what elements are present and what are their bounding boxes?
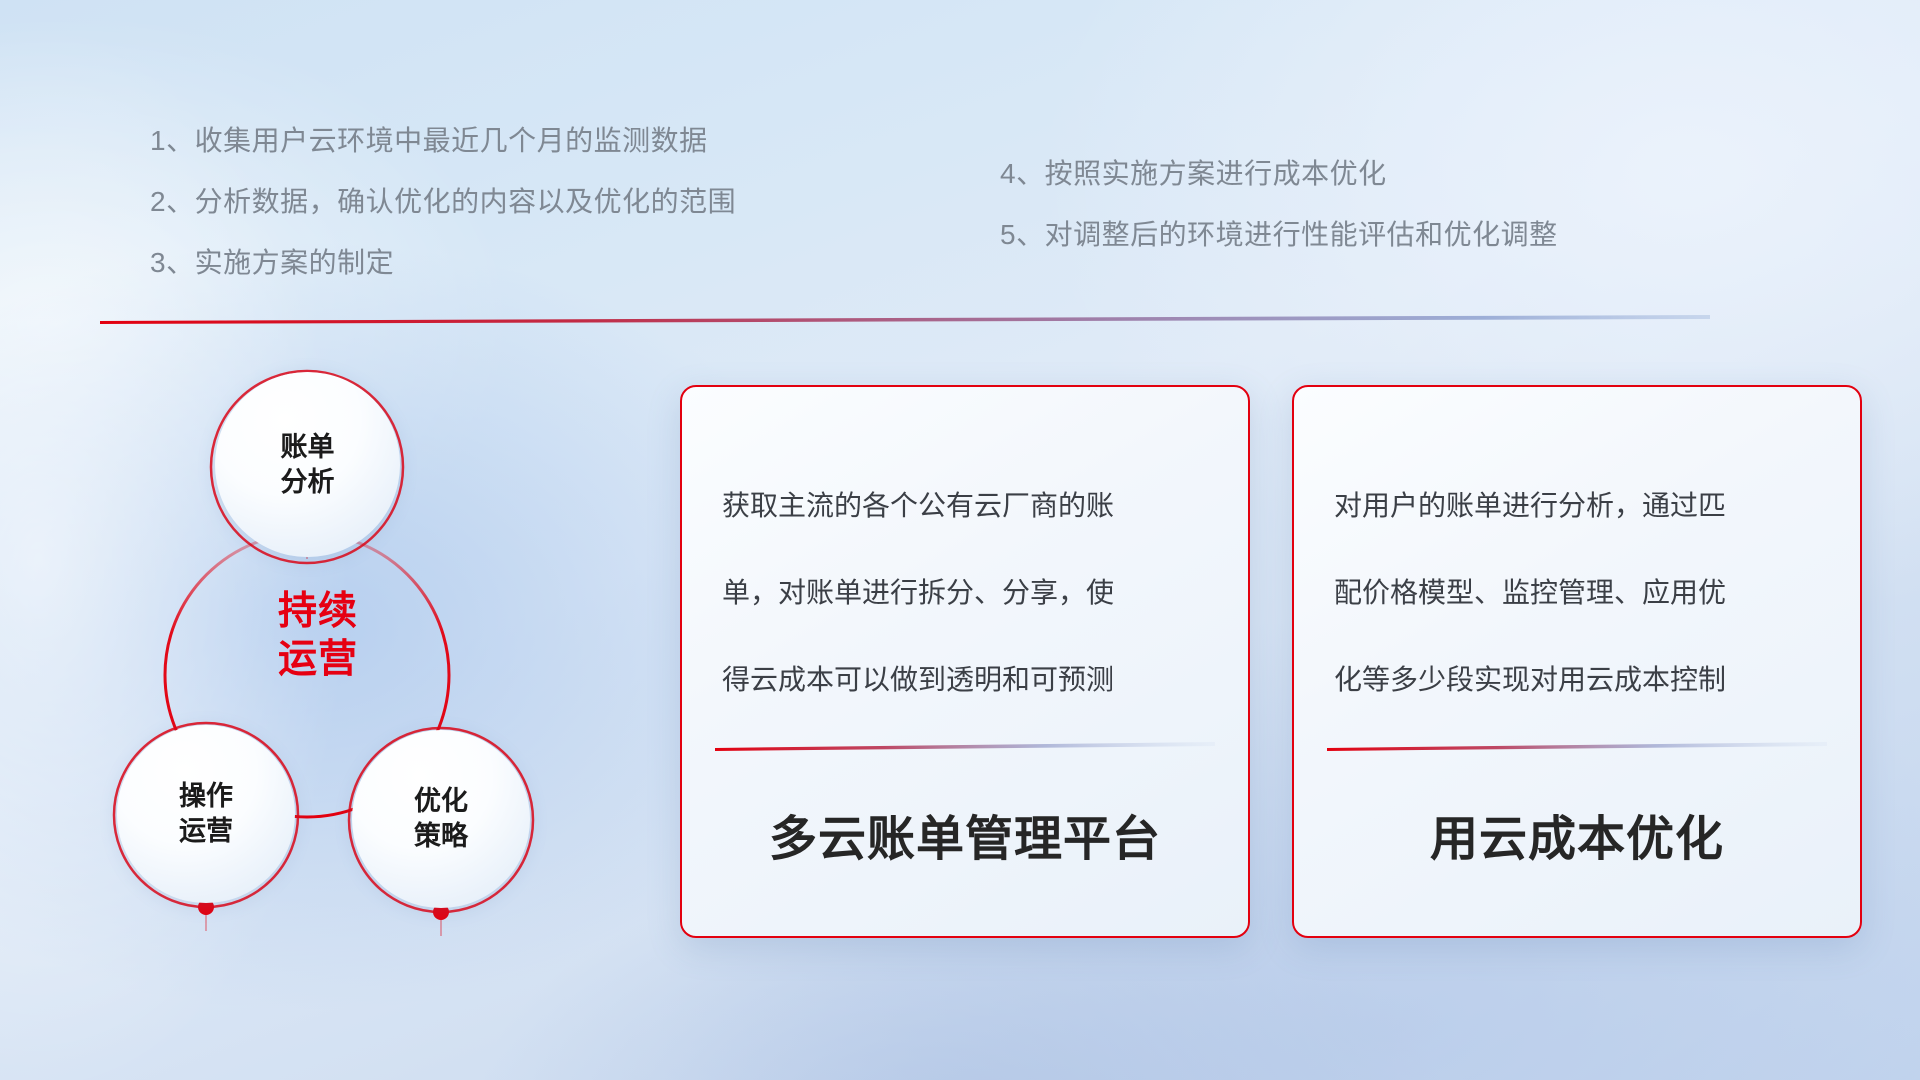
bubble-bill-analysis[interactable]: 账单 分析 — [215, 372, 400, 557]
step-item: 3、实施方案的制定 — [150, 249, 736, 277]
step-item: 1、收集用户云环境中最近几个月的监测数据 — [150, 127, 736, 155]
step-item: 2、分析数据，确认优化的内容以及优化的范围 — [150, 188, 736, 216]
card-text-line: 单，对账单进行拆分、分享，使 — [722, 579, 1222, 607]
bubble-label-line1: 账单 — [281, 430, 335, 465]
slide-canvas: 1、收集用户云环境中最近几个月的监测数据 2、分析数据，确认优化的内容以及优化的… — [0, 0, 1920, 1080]
bubble-label-line1: 优化 — [414, 784, 468, 819]
card-title: 用云成本优化 — [1294, 799, 1860, 869]
bubble-operations[interactable]: 操作 运营 — [117, 725, 295, 903]
feature-card-cloud-cost-optimization[interactable]: 对用户的账单进行分析，通过匹 配价格模型、监控管理、应用优 化等多少段实现对用云… — [1292, 385, 1862, 938]
section-divider-wedge — [100, 310, 1710, 324]
step-item: 4、按照实施方案进行成本优化 — [1000, 160, 1558, 188]
card-text-line: 获取主流的各个公有云厂商的账 — [722, 492, 1222, 520]
center-label-line1: 持续 — [238, 588, 398, 636]
bubble-label-line2: 策略 — [414, 819, 468, 854]
card-text-line: 对用户的账单进行分析，通过匹 — [1334, 492, 1834, 520]
center-label-line2: 运营 — [238, 636, 398, 684]
diagram-center-label: 持续 运营 — [238, 588, 398, 683]
card-divider-wedge — [715, 739, 1215, 751]
card-text-line: 化等多少段实现对用云成本控制 — [1334, 666, 1834, 694]
bubble-optimization-strategy[interactable]: 优化 策略 — [352, 730, 530, 908]
bubble-label-line2: 运营 — [179, 814, 233, 849]
bubble-label-line2: 分析 — [281, 465, 335, 500]
feature-card-multicloud-billing[interactable]: 获取主流的各个公有云厂商的账 单，对账单进行拆分、分享，使 得云成本可以做到透明… — [680, 385, 1250, 938]
card-divider-wedge — [1327, 739, 1827, 751]
step-item: 5、对调整后的环境进行性能评估和优化调整 — [1000, 221, 1558, 249]
card-title: 多云账单管理平台 — [682, 799, 1248, 869]
card-text-line: 得云成本可以做到透明和可预测 — [722, 666, 1222, 694]
card-body-text: 获取主流的各个公有云厂商的账 单，对账单进行拆分、分享，使 得云成本可以做到透明… — [722, 492, 1222, 753]
card-text-line: 配价格模型、监控管理、应用优 — [1334, 579, 1834, 607]
steps-list-right: 4、按照实施方案进行成本优化 5、对调整后的环境进行性能评估和优化调整 — [1000, 160, 1558, 282]
steps-list-left: 1、收集用户云环境中最近几个月的监测数据 2、分析数据，确认优化的内容以及优化的… — [150, 127, 736, 310]
card-body-text: 对用户的账单进行分析，通过匹 配价格模型、监控管理、应用优 化等多少段实现对用云… — [1334, 492, 1834, 753]
bubble-label-line1: 操作 — [179, 779, 233, 814]
